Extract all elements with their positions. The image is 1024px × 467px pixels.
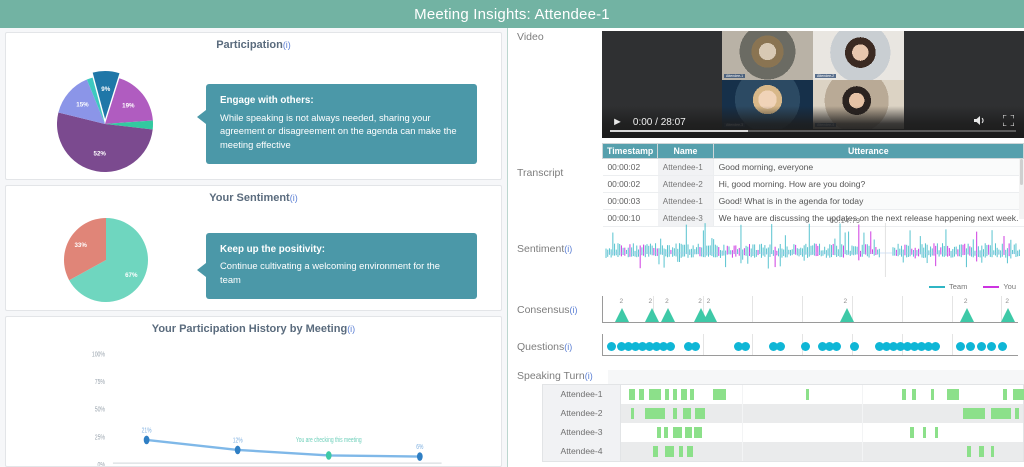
consensus-marker-label: 2 (844, 298, 848, 305)
speaking-turn-row-label: Attendee-2 (543, 404, 620, 423)
transcript-label-text: Transcript (517, 167, 563, 179)
consensus-marker[interactable]: 2 (840, 308, 854, 322)
questions-info-icon[interactable]: (i) (564, 342, 572, 352)
sentiment-chart-legend: Team You (929, 282, 1016, 291)
question-marker[interactable] (691, 342, 700, 351)
sentiment-waveform: 00:14:79 Team You (602, 219, 1024, 289)
history-title-text: Your Participation History by Meeting (152, 323, 347, 335)
transcript-section: Transcript Timestamp Name Utterance 00:0… (508, 143, 1024, 219)
consensus-marker[interactable]: 2 (645, 308, 659, 322)
video-tile-name: Attendee-1 (724, 74, 745, 78)
transcript-cell-utterance: Hi, good morning. How are you doing? (713, 176, 1023, 193)
speaking-turn-block[interactable] (1013, 389, 1024, 400)
speaking-turn-block[interactable] (694, 427, 702, 438)
speaking-turn-section-label: Speaking Turn(i) (508, 370, 608, 384)
speaking-turn-block[interactable] (687, 446, 693, 457)
triangle-icon (661, 308, 675, 322)
video-section-label: Video (508, 28, 608, 143)
sentiment-insight-heading: Keep up the positivity: (220, 243, 463, 257)
questions-section-label: Questions(i) (508, 332, 608, 370)
consensus-marker-label: 2 (964, 298, 968, 305)
questions-section: Questions(i) (508, 332, 1024, 370)
sentiment-section-label: Sentiment(i) (508, 219, 608, 294)
main-body: Participation(i) 9%19%52%15% Engage with… (0, 28, 1024, 467)
lane-separator (742, 442, 743, 461)
history-info-icon[interactable]: (i) (347, 324, 355, 334)
consensus-section: Consensus(i) 22222222 (508, 294, 1024, 332)
video-label-text: Video (517, 31, 544, 43)
speaking-turn-chart: Attendee-1Attendee-2Attendee-3Attendee-4 (508, 384, 1024, 462)
history-line-chart: 0%25%50%75%100%21%06-11-202012%06-18-202… (6, 335, 501, 467)
speaking-turn-section: Speaking Turn(i) Attendee-1Attendee-2Att… (508, 370, 1024, 462)
transcript-scrollbar[interactable] (1019, 159, 1024, 219)
transcript-col-timestamp[interactable]: Timestamp (603, 144, 658, 159)
participation-card: Participation(i) 9%19%52%15% Engage with… (5, 32, 502, 180)
question-marker[interactable] (850, 342, 859, 351)
sentiment-title: Your Sentiment(i) (6, 186, 501, 204)
consensus-marker[interactable]: 2 (703, 308, 717, 322)
question-marker[interactable] (832, 342, 841, 351)
participation-info-icon[interactable]: (i) (283, 40, 291, 50)
lane-separator (742, 404, 743, 423)
speaking-turn-row-label: Attendee-4 (543, 442, 620, 461)
speaking-turn-block[interactable] (935, 427, 939, 438)
speaking-turn-block[interactable] (679, 446, 683, 457)
speaking-turn-block[interactable] (923, 427, 927, 438)
transcript-cell-timestamp: 00:00:03 (603, 193, 658, 210)
transcript-cell-timestamp: 00:00:02 (603, 176, 658, 193)
participation-insight-callout: Engage with others: While speaking is no… (206, 84, 477, 163)
transcript-row[interactable]: 00:00:02Attendee-1Good morning, everyone (603, 159, 1024, 176)
speaking-turn-block[interactable] (713, 389, 725, 400)
speaking-turn-block[interactable] (673, 389, 677, 400)
consensus-info-icon[interactable]: (i) (570, 305, 578, 315)
sentiment-pie-svg: 67%33% (47, 214, 165, 306)
lane-separator (862, 404, 863, 423)
speaking-turn-block[interactable] (683, 408, 691, 419)
speaking-turn-block[interactable] (657, 427, 661, 438)
speaking-turn-lane[interactable] (621, 423, 1023, 442)
transcript-col-utterance[interactable]: Utterance (713, 144, 1023, 159)
speaking-turn-block[interactable] (695, 408, 705, 419)
speaking-turn-block[interactable] (665, 389, 669, 400)
question-marker[interactable] (966, 342, 975, 351)
transcript-cell-timestamp: 00:00:02 (603, 159, 658, 176)
consensus-section-label: Consensus(i) (508, 294, 608, 332)
timeline-gridline (752, 334, 753, 355)
speaking-turn-block[interactable] (806, 389, 809, 400)
speaking-turn-block[interactable] (963, 408, 985, 419)
question-marker[interactable] (666, 342, 675, 351)
speaking-turn-block[interactable] (1003, 389, 1007, 400)
lane-separator (862, 385, 863, 404)
speaking-turn-block[interactable] (931, 389, 935, 400)
consensus-marker-label: 2 (1005, 298, 1009, 305)
svg-text:9%: 9% (101, 86, 110, 93)
speaking-turn-block[interactable] (902, 389, 906, 400)
sentiment-insight-body: Continue cultivating a welcoming environ… (220, 260, 440, 285)
participation-insight-heading: Engage with others: (220, 94, 463, 108)
svg-text:You are checking this meeting: You are checking this meeting (296, 436, 362, 444)
transcript-cell-name: Attendee-1 (658, 159, 713, 176)
timeline-gridline (802, 296, 803, 322)
speaking-turn-block[interactable] (1015, 408, 1019, 419)
timeline-gridline (952, 334, 953, 355)
svg-text:100%: 100% (92, 351, 105, 359)
speaking-turn-block[interactable] (664, 427, 668, 438)
sentiment-chart-section: Sentiment(i) 00:14:79 Team You (508, 219, 1024, 294)
history-title: Your Participation History by Meeting(i) (6, 317, 501, 335)
timeline-gridline (952, 296, 953, 322)
meeting-insights-app: Meeting Insights: Attendee-1 Participati… (0, 0, 1024, 467)
page-title-text: Meeting Insights: Attendee-1 (414, 6, 610, 23)
speaking-turn-block[interactable] (681, 389, 686, 400)
legend-label-you: You (1003, 282, 1016, 291)
svg-text:67%: 67% (125, 272, 138, 279)
lane-separator (862, 423, 863, 442)
sentiment-chart-label-text: Sentiment (517, 243, 564, 255)
speaking-turn-block[interactable] (685, 427, 691, 438)
sentiment-title-text: Your Sentiment (209, 192, 289, 204)
consensus-marker[interactable]: 2 (960, 308, 974, 322)
consensus-marker-label: 2 (698, 298, 702, 305)
speaking-turn-block[interactable] (673, 427, 682, 438)
triangle-icon (1001, 308, 1015, 322)
svg-text:25%: 25% (95, 433, 105, 441)
speaking-turn-info-icon[interactable]: (i) (585, 371, 593, 381)
video-tile: Attendee-1 (722, 31, 813, 80)
speaking-turn-block[interactable] (967, 446, 971, 457)
consensus-label-text: Consensus (517, 304, 570, 316)
svg-text:0%: 0% (98, 461, 106, 467)
speaking-turn-names: Attendee-1Attendee-2Attendee-3Attendee-4 (542, 384, 620, 462)
speaking-turn-lane[interactable] (621, 404, 1023, 423)
video-tile-name: Attendee-2 (815, 74, 836, 78)
triangle-icon (703, 308, 717, 322)
svg-text:52%: 52% (94, 150, 107, 157)
fullscreen-icon[interactable] (1003, 115, 1014, 129)
triangle-icon (645, 308, 659, 322)
question-marker[interactable] (956, 342, 965, 351)
video-player[interactable]: Attendee-1 Attendee-2 Attendee-3 Attende… (602, 31, 1024, 138)
speaking-turn-block[interactable] (645, 408, 665, 419)
speaking-turn-label-text: Speaking Turn (517, 370, 585, 382)
transcript-section-label: Transcript (508, 143, 608, 219)
svg-text:50%: 50% (95, 406, 105, 414)
transcript-row[interactable]: 00:00:03Attendee-1Good! What is in the a… (603, 193, 1024, 210)
questions-timeline[interactable] (602, 334, 1018, 356)
speaking-turn-row-label: Attendee-1 (543, 385, 620, 404)
sentiment-chart-info-icon[interactable]: (i) (564, 244, 572, 254)
speaking-turn-lane[interactable] (621, 385, 1023, 404)
speaking-turn-block[interactable] (947, 389, 959, 400)
video-controls: ► 0:00 / 28:07 (602, 106, 1024, 138)
volume-icon[interactable] (974, 115, 987, 129)
transcript-row[interactable]: 00:00:02Attendee-2Hi, good morning. How … (603, 176, 1024, 193)
sentiment-card: Your Sentiment(i) 67%33% positive (5, 185, 502, 311)
question-marker[interactable] (931, 342, 940, 351)
svg-text:15%: 15% (76, 102, 89, 109)
speaking-turn-block[interactable] (991, 408, 1011, 419)
speaking-turn-block[interactable] (639, 389, 644, 400)
consensus-marker-label: 2 (649, 298, 653, 305)
transcript-col-name[interactable]: Name (658, 144, 713, 159)
transcript-cell-utterance: Good! What is in the agenda for today (713, 193, 1023, 210)
sentiment-insight-callout: Keep up the positivity: Continue cultiva… (206, 233, 477, 298)
speaking-turn-block[interactable] (912, 389, 916, 400)
speaking-turn-block[interactable] (665, 446, 674, 457)
transcript-header-row: Timestamp Name Utterance (603, 144, 1024, 159)
question-marker[interactable] (987, 342, 996, 351)
question-marker[interactable] (741, 342, 750, 351)
triangle-icon (960, 308, 974, 322)
svg-text:21%: 21% (142, 427, 152, 435)
speaking-turn-block[interactable] (991, 446, 995, 457)
speaking-turn-block[interactable] (631, 408, 634, 419)
speaking-turn-block[interactable] (649, 389, 661, 400)
video-tile: Attendee-2 (813, 31, 904, 80)
participation-insight-body: While speaking is not always needed, sha… (220, 112, 457, 150)
speaking-turn-block[interactable] (979, 446, 985, 457)
question-marker[interactable] (998, 342, 1007, 351)
timeline-gridline (752, 296, 753, 322)
svg-text:12%: 12% (233, 437, 243, 445)
sentiment-timestamp: 00:14:79 (830, 218, 860, 225)
question-marker[interactable] (776, 342, 785, 351)
participation-pie-svg: 9%19%52%15% (41, 66, 171, 180)
lane-separator (862, 442, 863, 461)
consensus-marker-label: 2 (665, 298, 669, 305)
video-time-display: 0:00 / 28:07 (633, 117, 686, 128)
legend-label-team: Team (949, 282, 967, 291)
sentiment-pie-chart: 67%33% positive negative (6, 204, 206, 311)
speaking-turn-block[interactable] (653, 446, 658, 457)
legend-item-you[interactable]: You (983, 282, 1016, 291)
sentiment-waveform-svg (602, 219, 1024, 281)
speaking-turn-block[interactable] (673, 408, 677, 419)
speaking-turn-block[interactable] (690, 389, 694, 400)
question-marker[interactable] (607, 342, 616, 351)
speaking-turn-lane[interactable] (621, 442, 1023, 461)
legend-item-team[interactable]: Team (929, 282, 967, 291)
lane-separator (742, 385, 743, 404)
timeline-gridline (902, 296, 903, 322)
transcript-cell-name: Attendee-1 (658, 193, 713, 210)
question-marker[interactable] (977, 342, 986, 351)
consensus-marker-label: 2 (619, 298, 623, 305)
video-section: Video Attendee-1 Attendee-2 Attende (508, 28, 1024, 143)
transcript-cell-utterance: Good morning, everyone (713, 159, 1023, 176)
consensus-timeline[interactable]: 22222222 (602, 296, 1018, 323)
left-panel: Participation(i) 9%19%52%15% Engage with… (0, 28, 508, 467)
right-panel: Video Attendee-1 Attendee-2 Attende (508, 28, 1024, 467)
transcript-cell-name: Attendee-2 (658, 176, 713, 193)
play-icon[interactable]: ► (612, 116, 623, 128)
svg-text:33%: 33% (74, 242, 87, 249)
participation-title-text: Participation (216, 39, 283, 51)
lane-separator (742, 423, 743, 442)
timeline-gridline (703, 334, 704, 355)
consensus-marker-label: 2 (707, 298, 711, 305)
triangle-icon (615, 308, 629, 322)
consensus-marker[interactable]: 2 (1001, 308, 1015, 322)
consensus-marker[interactable]: 2 (615, 308, 629, 322)
participation-pie-chart: 9%19%52%15% (6, 51, 206, 180)
video-progress-bar[interactable] (610, 130, 1016, 132)
sentiment-info-icon[interactable]: (i) (290, 193, 298, 203)
question-marker[interactable] (801, 342, 810, 351)
questions-label-text: Questions (517, 341, 564, 353)
speaking-turn-block[interactable] (629, 389, 635, 400)
speaking-turn-block[interactable] (910, 427, 914, 438)
consensus-marker[interactable]: 2 (661, 308, 675, 322)
speaking-turn-lanes[interactable] (620, 384, 1024, 462)
speaking-turn-row-label: Attendee-3 (543, 423, 620, 442)
transcript-table: Timestamp Name Utterance 00:00:02Attende… (602, 143, 1024, 227)
participation-title: Participation(i) (6, 33, 501, 51)
page-title: Meeting Insights: Attendee-1 (0, 0, 1024, 28)
participation-history-card: Your Participation History by Meeting(i)… (5, 316, 502, 467)
svg-text:19%: 19% (122, 103, 135, 110)
triangle-icon (840, 308, 854, 322)
svg-text:6%: 6% (416, 443, 423, 451)
svg-text:75%: 75% (95, 378, 105, 386)
